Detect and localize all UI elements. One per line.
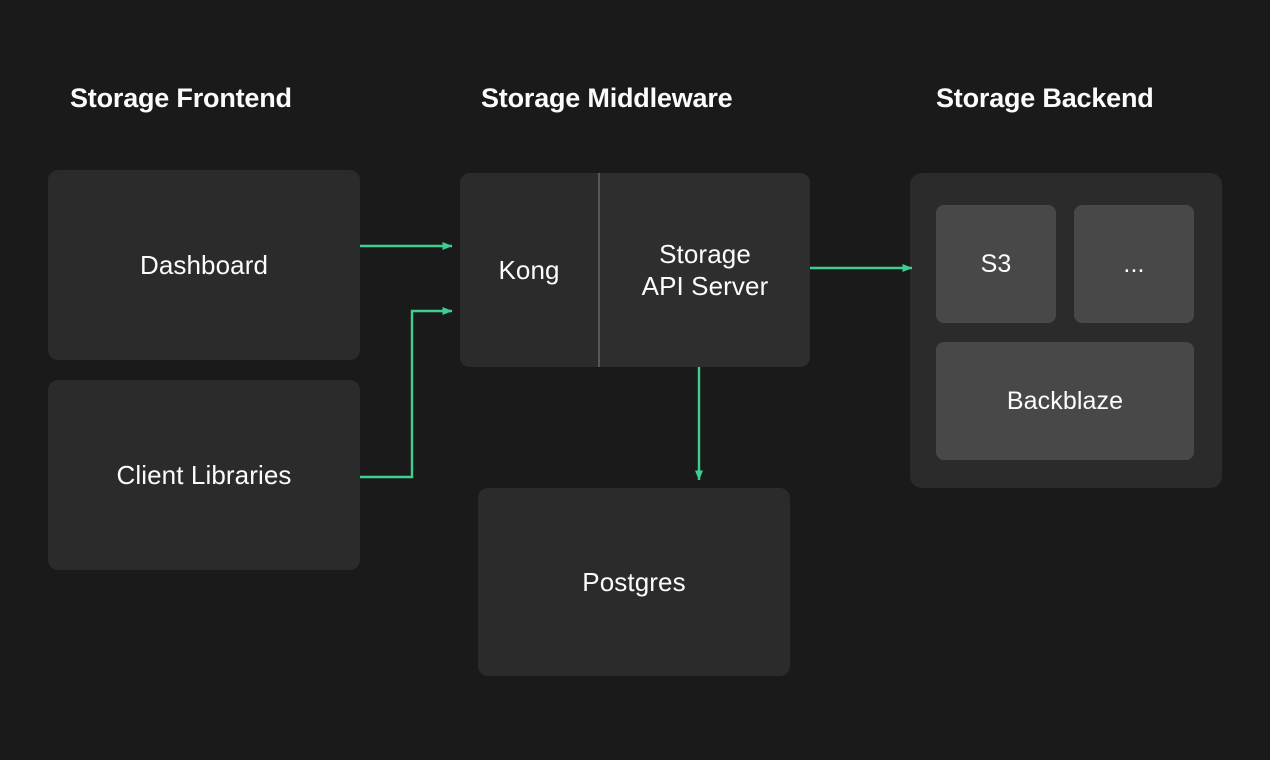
node-storage-middleware-group: Kong Storage API Server xyxy=(460,173,810,367)
node-client-libraries[interactable]: Client Libraries xyxy=(48,380,360,570)
architecture-diagram: Storage Frontend Storage Middleware Stor… xyxy=(0,0,1270,760)
storage-api-server-line-1: Storage xyxy=(642,238,769,271)
column-heading-storage-middleware: Storage Middleware xyxy=(481,85,732,112)
connector-client-libraries-to-kong xyxy=(360,311,452,477)
node-kong[interactable]: Kong xyxy=(460,173,598,367)
node-s3[interactable]: S3 xyxy=(936,205,1056,323)
storage-api-server-line-2: API Server xyxy=(642,270,769,303)
node-backblaze[interactable]: Backblaze xyxy=(936,342,1194,460)
node-more-providers[interactable]: ... xyxy=(1074,205,1194,323)
node-dashboard[interactable]: Dashboard xyxy=(48,170,360,360)
node-storage-backend-group: S3 ... Backblaze xyxy=(910,173,1222,488)
node-storage-api-server[interactable]: Storage API Server xyxy=(600,173,810,367)
column-heading-storage-frontend: Storage Frontend xyxy=(70,85,292,112)
node-postgres[interactable]: Postgres xyxy=(478,488,790,676)
column-heading-storage-backend: Storage Backend xyxy=(936,85,1154,112)
